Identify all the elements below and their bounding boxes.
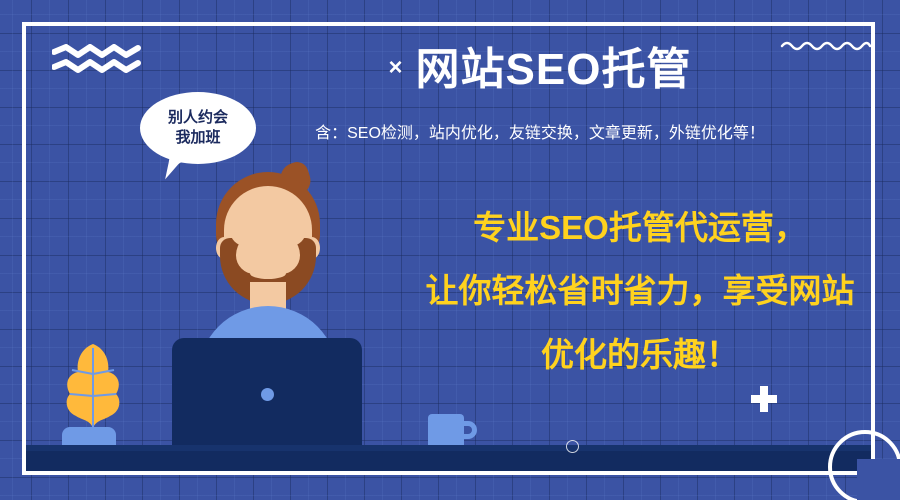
corner-mask [857, 459, 900, 500]
headline-line-3: 优化的乐趣！ [390, 323, 890, 386]
subtitle: 含：SEO检测，站内优化，友链交换，文章更新，外链优化等！ [280, 124, 800, 145]
wave-lines-left-icon [52, 44, 148, 74]
headline-line-2: 让你轻松省时省力，享受网站 [390, 259, 890, 322]
plus-mark-icon [751, 386, 777, 412]
title-text: 网站SEO托管 [416, 45, 692, 94]
seo-poster: 别人约会 我加班 ×网站SEO托管 含：SEO检测，站内优化，友链交换，文章更新… [0, 0, 900, 500]
headline-line-1: 专业SEO托管代运营， [390, 196, 890, 259]
headline: 专业SEO托管代运营， 让你轻松省时省力，享受网站 优化的乐趣！ [390, 196, 890, 386]
small-circle-decoration [566, 440, 579, 453]
title-marker-icon: × [389, 54, 404, 81]
page-title: ×网站SEO托管 [300, 46, 780, 94]
wave-line-right-icon [780, 38, 872, 54]
